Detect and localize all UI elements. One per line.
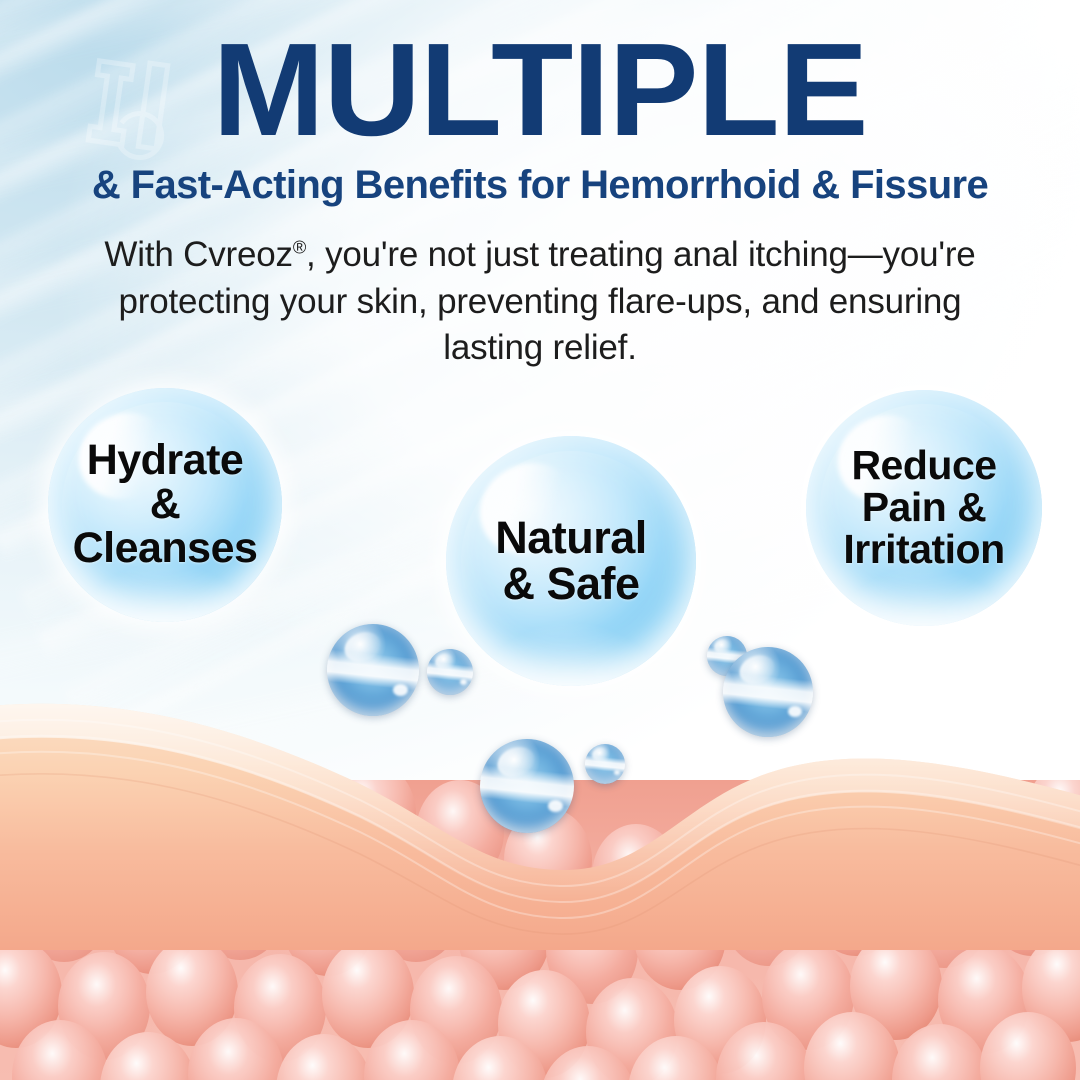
bubble-reduce-pain-irritation[interactable]: Reduce Pain & Irritation xyxy=(806,390,1042,626)
body-paragraph: With Cvreoz®, you're not just treating a… xyxy=(90,232,990,372)
water-droplet xyxy=(480,739,574,833)
bubble-hydrate-cleanses[interactable]: Hydrate & Cleanses xyxy=(48,388,282,622)
infographic-poster: MULTIPLE & Fast-Acting Benefits for Hemo… xyxy=(0,0,1080,1080)
water-droplet xyxy=(427,649,473,695)
page-subtitle: & Fast-Acting Benefits for Hemorrhoid & … xyxy=(0,163,1080,207)
registered-trademark-symbol: ® xyxy=(293,237,306,257)
bubble-natural-safe[interactable]: Natural & Safe xyxy=(446,436,696,686)
water-droplet xyxy=(723,647,813,737)
bubble-label-hydrate-cleanses: Hydrate & Cleanses xyxy=(73,439,258,571)
bubble-label-reduce-pain-irritation: Reduce Pain & Irritation xyxy=(843,445,1004,570)
page-title: MULTIPLE xyxy=(0,24,1080,156)
water-droplet xyxy=(327,624,419,716)
bubble-label-natural-safe: Natural & Safe xyxy=(495,515,647,607)
water-droplet xyxy=(585,744,625,784)
body-text-lead: With Cvreoz xyxy=(104,235,292,274)
